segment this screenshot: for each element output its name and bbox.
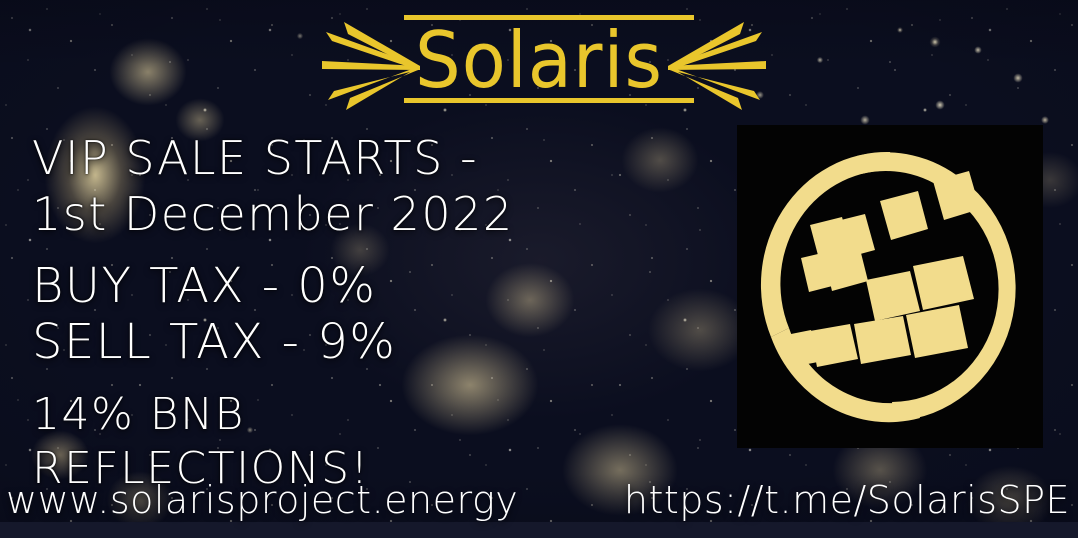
sale-headline: VIP SALE STARTS - xyxy=(32,130,672,186)
buy-tax-line: BUY TAX - 0% xyxy=(32,258,672,314)
tax-block: BUY TAX - 0% SELL TAX - 9% xyxy=(32,258,672,370)
sell-tax-line: SELL TAX - 9% xyxy=(32,314,672,370)
solaris-promo-banner: Solaris VIP SALE STARTS - 1st December 2… xyxy=(0,0,1078,538)
solaris-emblem-icon xyxy=(737,125,1043,448)
brand-wordmark-text: Solaris xyxy=(415,21,663,99)
brand-header: Solaris xyxy=(0,14,1078,118)
brand-wordmark: Solaris xyxy=(0,24,1078,96)
sale-date: 1st December 2022 xyxy=(32,186,672,242)
solaris-logo-badge xyxy=(737,125,1043,448)
announcement-copy: VIP SALE STARTS - 1st December 2022 BUY … xyxy=(32,130,672,496)
website-link[interactable]: www.solarisproject.energy xyxy=(6,476,518,524)
telegram-link[interactable]: https://t.me/SolarisSPE xyxy=(624,476,1070,524)
reflections-rate-line: 14% BNB xyxy=(32,388,672,442)
footer-links: www.solarisproject.energy https://t.me/S… xyxy=(0,476,1078,532)
sale-announcement-block: VIP SALE STARTS - 1st December 2022 xyxy=(32,130,672,242)
